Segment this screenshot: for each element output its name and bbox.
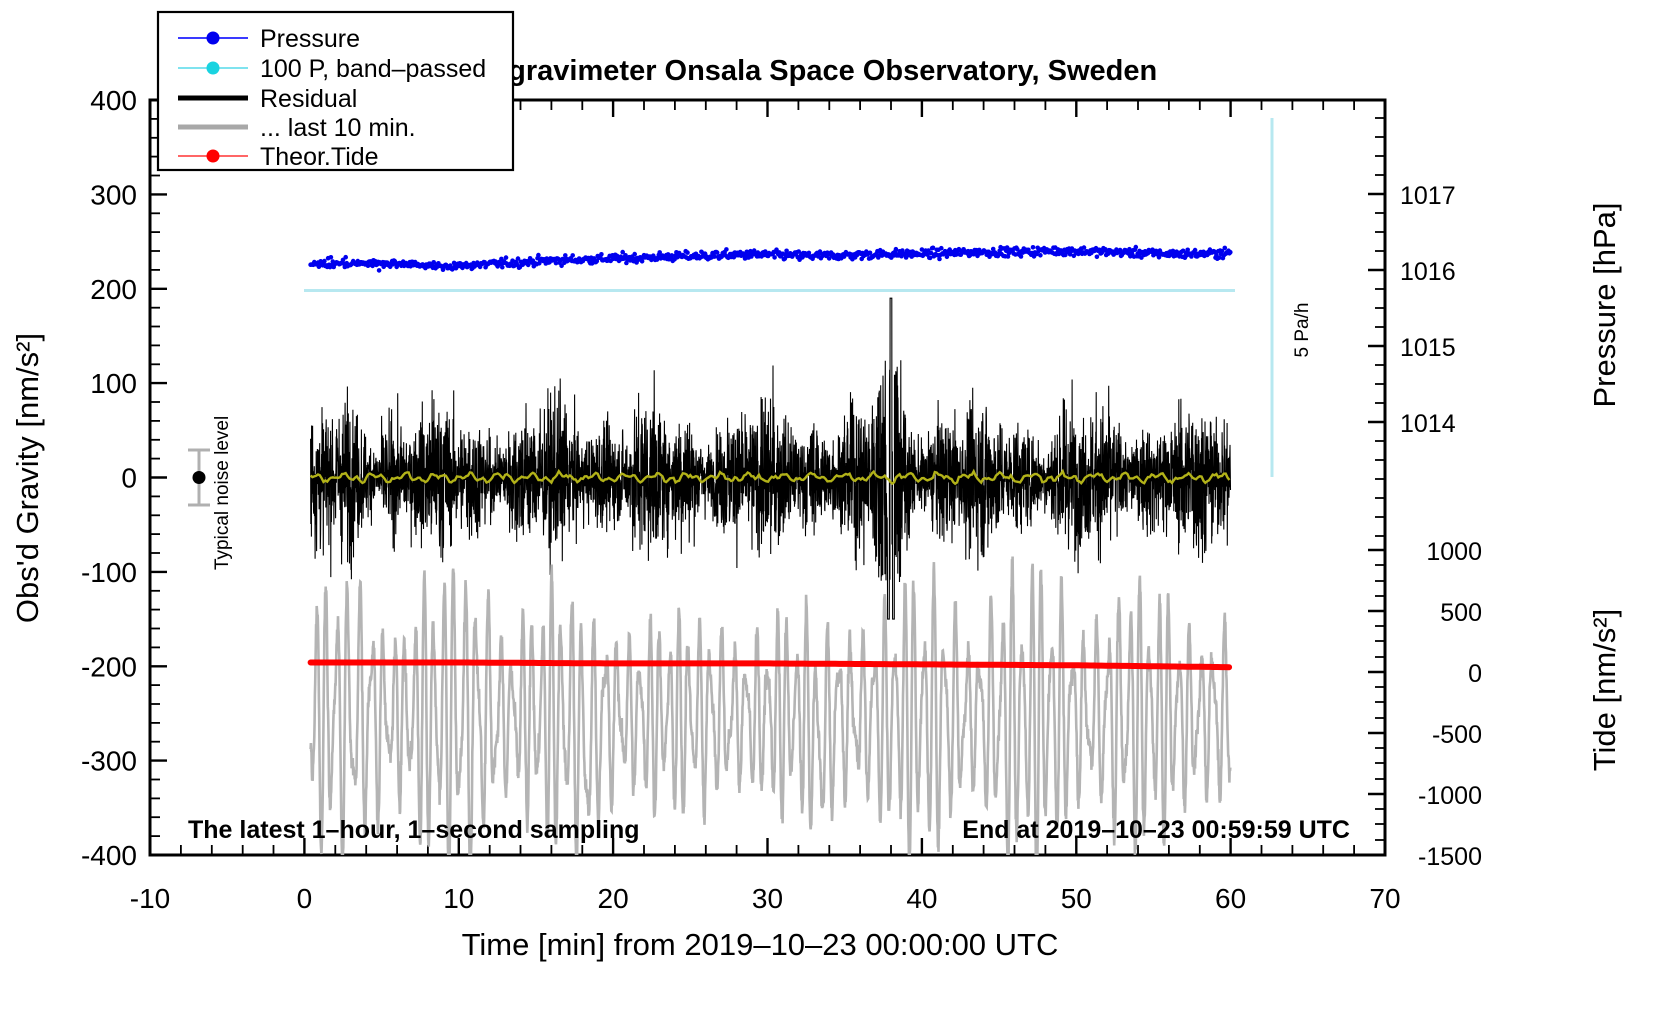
svg-text:50: 50 bbox=[1061, 883, 1092, 914]
annotation-sampling: The latest 1–hour, 1–second sampling bbox=[188, 816, 640, 844]
svg-text:1017: 1017 bbox=[1400, 182, 1456, 210]
svg-text:500: 500 bbox=[1440, 599, 1482, 627]
series-pressure bbox=[308, 245, 1232, 273]
gravimeter-timeseries-chart: -10 0 10 20 30 40 50 60 70 400 300 200 1… bbox=[0, 0, 1660, 1020]
svg-text:-300: -300 bbox=[81, 746, 137, 777]
svg-text:60: 60 bbox=[1215, 883, 1246, 914]
svg-text:1000: 1000 bbox=[1426, 538, 1482, 566]
svg-text:-200: -200 bbox=[81, 651, 137, 682]
svg-text:1016: 1016 bbox=[1400, 258, 1456, 286]
legend-marker-bandpassed-icon bbox=[207, 62, 220, 75]
svg-text:1015: 1015 bbox=[1400, 334, 1456, 362]
y-axis-right-pressure-label: Pressure [hPa] bbox=[1587, 202, 1622, 407]
y-axis-right-ticks bbox=[1368, 118, 1385, 855]
svg-text:40: 40 bbox=[906, 883, 937, 914]
annotation-pressure-rate: 5 Pa/h bbox=[1292, 303, 1313, 358]
legend-label-pressure: Pressure bbox=[260, 25, 360, 53]
series-theoretical-tide bbox=[311, 663, 1230, 668]
legend-label-theor-tide: Theor.Tide bbox=[260, 143, 379, 171]
svg-text:0: 0 bbox=[121, 463, 137, 494]
y-axis-left-ticks bbox=[150, 100, 167, 855]
y-axis-right-tide-label: Tide [nm/s²] bbox=[1587, 609, 1622, 772]
svg-text:1014: 1014 bbox=[1400, 410, 1456, 438]
annotation-end-time: End at 2019–10–23 00:59:59 UTC bbox=[962, 816, 1350, 844]
svg-text:-400: -400 bbox=[81, 840, 137, 871]
svg-text:0: 0 bbox=[1468, 660, 1482, 688]
x-axis-label: Time [min] from 2019–10–23 00:00:00 UTC bbox=[462, 927, 1059, 962]
y-right-tide-tick-labels: 1000 500 0 -500 -1000 -1500 bbox=[1418, 538, 1482, 871]
svg-text:400: 400 bbox=[90, 85, 137, 116]
y-axis-left-label: Obs'd Gravity [nm/s²] bbox=[10, 333, 45, 623]
legend-marker-theor-tide-icon bbox=[207, 150, 220, 163]
legend-label-bandpassed: 100 P, band–passed bbox=[260, 55, 486, 83]
svg-text:70: 70 bbox=[1369, 883, 1400, 914]
typical-noise-level-marker bbox=[188, 450, 210, 505]
legend-label-last-10-min: ... last 10 min. bbox=[260, 114, 416, 142]
legend-marker-pressure-icon bbox=[207, 32, 220, 45]
svg-text:-1000: -1000 bbox=[1418, 782, 1482, 810]
y-right-pressure-tick-labels: 1017 1016 1015 1014 bbox=[1400, 182, 1456, 438]
svg-text:-500: -500 bbox=[1432, 721, 1482, 749]
svg-text:-10: -10 bbox=[130, 883, 170, 914]
x-tick-labels: -10 0 10 20 30 40 50 60 70 bbox=[130, 883, 1401, 914]
svg-text:200: 200 bbox=[90, 274, 137, 305]
svg-text:300: 300 bbox=[90, 179, 137, 210]
y-left-tick-labels: 400 300 200 100 0 -100 -200 -300 -400 bbox=[81, 85, 137, 871]
svg-text:-1500: -1500 bbox=[1418, 843, 1482, 871]
svg-text:0: 0 bbox=[297, 883, 313, 914]
legend: Pressure 100 P, band–passed Residual ...… bbox=[158, 12, 513, 171]
svg-text:100: 100 bbox=[90, 368, 137, 399]
svg-text:20: 20 bbox=[598, 883, 629, 914]
svg-text:30: 30 bbox=[752, 883, 783, 914]
series-residual bbox=[311, 298, 1231, 619]
figure-canvas: -10 0 10 20 30 40 50 60 70 400 300 200 1… bbox=[0, 0, 1660, 1020]
svg-text:10: 10 bbox=[443, 883, 474, 914]
legend-label-residual: Residual bbox=[260, 85, 357, 113]
svg-text:-100: -100 bbox=[81, 557, 137, 588]
annotation-typical-noise-level: Typical noise level bbox=[212, 416, 233, 570]
